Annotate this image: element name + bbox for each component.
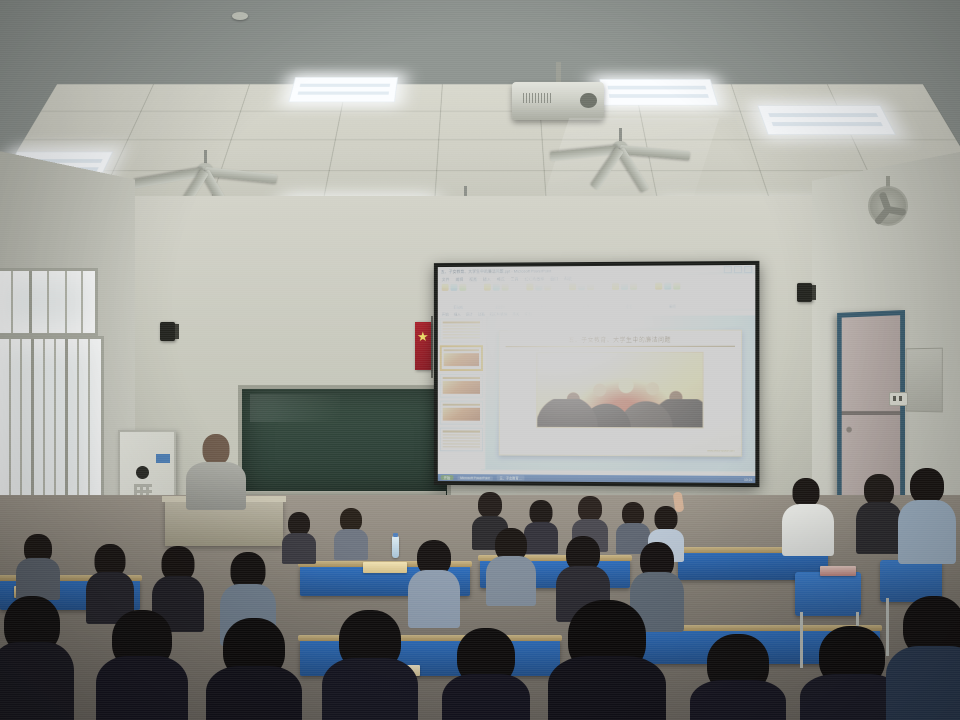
student (856, 474, 902, 554)
slide-thumbnail-number: 1 (440, 327, 442, 331)
window-mullion (31, 339, 34, 517)
close-icon[interactable] (744, 266, 752, 273)
student-body (886, 646, 960, 720)
ceiling-tile (127, 111, 241, 140)
slide-thumbnail-number: 2 (441, 355, 443, 359)
projector-lens-icon (580, 93, 597, 108)
slide-thumbnail-number: 4 (440, 410, 442, 414)
ribbon-button-icon[interactable] (493, 284, 500, 291)
window-mullion (29, 271, 32, 333)
ribbon-button-icon[interactable] (484, 284, 491, 291)
ribbon-control[interactable] (612, 295, 622, 298)
slide-thumbnail-2[interactable]: 2 (440, 345, 483, 371)
slide-thumbnail-content (443, 381, 480, 394)
ceiling-light-panel (288, 77, 398, 102)
ribbon-group-row[interactable] (526, 296, 560, 299)
ribbon-button-icon[interactable] (569, 283, 576, 290)
cabinet-knob-icon[interactable] (136, 466, 149, 479)
menu-item-3[interactable]: 插入 (483, 276, 491, 282)
window-upper-left (0, 268, 98, 336)
windows-taskbar[interactable]: 开始 Microsoft PowerPoint 五、子女教育… 10:24 (438, 474, 756, 483)
slide-thumbnail-4[interactable]: 4 (440, 401, 483, 425)
window-bar (43, 339, 45, 517)
window-bar (47, 271, 49, 333)
presenter-body (186, 462, 246, 510)
ribbon-button-icon[interactable] (621, 283, 628, 290)
ceiling-tile (231, 111, 341, 140)
presenter (185, 434, 247, 510)
slide-thumbnail-title (443, 404, 480, 406)
ribbon-control[interactable] (508, 296, 518, 299)
ribbon-group-label: 剪贴板 (442, 305, 475, 310)
student-body (782, 504, 834, 556)
student (690, 634, 786, 720)
ribbon-control[interactable] (624, 295, 634, 298)
ribbon-button-icon[interactable] (459, 284, 466, 291)
ribbon-control[interactable] (442, 296, 452, 299)
flag-icon: ★ (415, 322, 431, 370)
maximize-icon[interactable] (734, 266, 742, 273)
slide-thumbnail-number: 5 (440, 436, 442, 440)
window-bar (20, 339, 22, 517)
student-body (548, 656, 666, 720)
ribbon-group-5[interactable]: 编辑 (651, 281, 694, 309)
slide-thumbnail-title (443, 430, 480, 432)
ribbon-group-2[interactable]: 字体 (522, 282, 565, 310)
student-body (0, 642, 74, 720)
wall-speaker-left-icon (160, 322, 175, 341)
student-body (690, 680, 786, 720)
student (0, 596, 74, 720)
student-body (856, 502, 902, 554)
window-buttons[interactable] (724, 266, 752, 273)
power-outlet-icon (889, 392, 908, 406)
slide-thumbnail-content (444, 353, 479, 366)
ribbon-button-icon[interactable] (535, 283, 542, 290)
ceiling-tile (41, 84, 154, 111)
projection-screen[interactable]: 五、子女教育、大学生中的廉洁问题.ppt - Microsoft PowerPo… (438, 265, 756, 483)
student-body (898, 500, 956, 564)
presenter-head (203, 434, 230, 465)
student-body (334, 529, 368, 560)
menu-item-0[interactable]: 文件 (442, 276, 450, 282)
student-body (486, 556, 536, 606)
menu-item-6[interactable]: 幻灯片放映 (524, 276, 544, 282)
ribbon-group-icons[interactable] (655, 282, 689, 289)
door-knob-icon[interactable] (846, 427, 852, 433)
menu-item-1[interactable]: 编辑 (455, 276, 463, 282)
slide-title: 五、子女教育、大学生中的廉洁问题 (506, 335, 734, 347)
slide-thumbnail-number: 3 (440, 383, 442, 387)
slide-thumbnail-panel[interactable]: 12345 (438, 316, 486, 469)
student-body (16, 558, 60, 600)
ribbon-group-label: 绘图 (612, 304, 646, 309)
start-button[interactable]: 开始 (441, 475, 454, 480)
classroom-scene: ★ 五、子女教育、大学生中的廉洁问题.ppt - Microsoft Power… (0, 0, 960, 720)
slide-thumbnail-3[interactable]: 3 (440, 374, 483, 398)
slide-thumbnail-title (444, 349, 479, 351)
student-white-shirt-side (782, 478, 834, 556)
ceiling-tile (141, 84, 251, 111)
window-bar (81, 271, 83, 333)
ceiling-tile (436, 140, 545, 172)
slide-thumbnail-content (443, 408, 480, 421)
ribbon-group-label: 编辑 (655, 304, 689, 309)
ribbon-control[interactable] (667, 295, 677, 298)
student (886, 596, 960, 720)
student-body (96, 656, 188, 720)
window-bar (11, 271, 13, 333)
student-body (206, 666, 302, 720)
ribbon-group-icons[interactable] (569, 283, 603, 290)
ribbon-button-icon[interactable] (664, 283, 671, 290)
ribbon-group-0[interactable]: 剪贴板 (438, 283, 480, 311)
ceiling-fan-right (545, 128, 695, 184)
student (96, 610, 188, 720)
ribbon-control[interactable] (538, 296, 548, 299)
projector (512, 82, 604, 120)
ribbon-group-label: 字体 (526, 304, 560, 309)
window-bar (88, 339, 90, 517)
wall-panel (906, 348, 943, 413)
ribbon-button-icon[interactable] (442, 284, 449, 291)
ribbon-control[interactable] (453, 296, 463, 299)
menu-item-8[interactable]: 帮助 (564, 276, 572, 282)
ribbon-button-icon[interactable] (578, 283, 585, 290)
window-main-left (0, 336, 104, 520)
wall-fan-icon (868, 186, 908, 226)
student (206, 618, 302, 720)
ribbon-button-icon[interactable] (630, 283, 637, 290)
chair (795, 572, 861, 616)
slide-thumbnail-content (443, 434, 480, 447)
flag-star-icon: ★ (417, 330, 429, 343)
ceiling-tile (328, 140, 439, 172)
taskbar-clock: 10:24 (744, 477, 752, 481)
ribbon-control[interactable] (655, 295, 665, 298)
window-bar (54, 339, 56, 517)
ceiling-light-panel (599, 79, 718, 105)
window-bar (77, 339, 79, 517)
notebook (820, 566, 856, 576)
menu-item-5[interactable]: 工具 (511, 276, 519, 282)
ribbon-button-icon[interactable] (544, 283, 551, 290)
menu-item-7[interactable]: 窗口 (550, 276, 558, 282)
slide-stage[interactable]: 五、子女教育、大学生中的廉洁问题 www.photo-source.com (486, 315, 755, 471)
powerpoint-workspace: 12345 五、子女教育、大学生中的廉洁问题 www.photo-source.… (438, 315, 756, 471)
taskbar-item[interactable]: 五、子女教育… (497, 475, 525, 480)
ribbon-toolbar[interactable]: 剪贴板幻灯片字体段落绘图编辑 (438, 281, 756, 312)
slide-thumbnail-1[interactable]: 1 (440, 318, 483, 342)
student (16, 534, 60, 600)
ribbon-button-icon[interactable] (451, 284, 458, 291)
slide-thumbnail-title (443, 321, 480, 323)
slide-photo-credit: www.photo-source.com (707, 450, 734, 453)
ceiling-light-panel (757, 105, 896, 134)
student (322, 610, 418, 720)
notebook (363, 562, 407, 573)
ribbon-button-icon[interactable] (502, 283, 509, 290)
projection-screen-frame: 五、子女教育、大学生中的廉洁问题.ppt - Microsoft PowerPo… (434, 261, 760, 487)
student (442, 628, 530, 720)
bottle-cap-icon (393, 533, 398, 537)
slide-thumbnail-content (443, 325, 480, 338)
student (486, 528, 536, 606)
ribbon-group-label: 段落 (569, 304, 603, 309)
ribbon-group-1[interactable]: 幻灯片 (480, 282, 522, 310)
student (282, 512, 316, 564)
projector-mount (556, 62, 561, 84)
chalkboard-glare (250, 394, 340, 422)
notes-placeholder: 单击此处添加备注 (484, 481, 511, 483)
student-head (910, 468, 944, 504)
slide-photo (537, 352, 703, 429)
menu-item-4[interactable]: 格式 (497, 276, 505, 282)
ribbon-group-4[interactable]: 绘图 (608, 282, 651, 310)
student-body (322, 658, 418, 720)
projector-body (512, 82, 604, 120)
ribbon-button-icon[interactable] (587, 283, 594, 290)
ribbon-group-label: 幻灯片 (484, 304, 518, 309)
student-body (282, 533, 316, 564)
ribbon-control[interactable] (496, 296, 506, 299)
ceiling-tile (335, 111, 441, 140)
water-bottle (392, 536, 399, 558)
window-bar (9, 339, 11, 517)
ribbon-control[interactable] (465, 296, 475, 299)
student-head (478, 492, 502, 518)
ribbon-control[interactable] (636, 295, 646, 298)
current-slide[interactable]: 五、子女教育、大学生中的廉洁问题 www.photo-source.com (499, 329, 741, 456)
student-head (792, 478, 819, 507)
taskbar-item[interactable]: Microsoft PowerPoint (457, 476, 493, 480)
ceiling-tile (749, 140, 868, 172)
cabinet-label (156, 454, 170, 463)
ribbon-group-icons[interactable] (612, 283, 646, 290)
ribbon-control[interactable] (526, 296, 536, 299)
flag-pole (431, 316, 433, 378)
ribbon-group-row[interactable] (612, 295, 646, 298)
menu-item-2[interactable]: 视图 (469, 276, 477, 282)
ribbon-group-row[interactable] (655, 295, 689, 298)
wall-speaker-right-icon (797, 283, 812, 302)
student-body (442, 674, 530, 720)
ribbon-control[interactable] (569, 296, 579, 299)
ribbon-button-icon[interactable] (612, 283, 619, 290)
ribbon-group-row[interactable] (442, 296, 475, 299)
ribbon-button-icon[interactable] (673, 283, 680, 290)
chalkboard (238, 385, 451, 501)
window-mullion (65, 339, 68, 517)
door-rail (842, 411, 900, 415)
ribbon-group-icons[interactable] (484, 283, 518, 290)
ribbon-button-icon[interactable] (655, 283, 662, 290)
ribbon-control[interactable] (484, 296, 494, 299)
ribbon-group-row[interactable] (484, 296, 518, 299)
ribbon-control[interactable] (679, 295, 689, 298)
ceiling-tile (24, 111, 142, 140)
student (548, 600, 666, 720)
slide-thumbnail-title (443, 377, 480, 379)
slide-thumbnail-5[interactable]: 5 (440, 427, 483, 451)
student (898, 468, 956, 564)
smoke-detector-icon (232, 12, 248, 20)
ribbon-group-icons[interactable] (442, 284, 475, 291)
ribbon-group-row[interactable] (569, 295, 603, 298)
ribbon-button-icon[interactable] (526, 283, 533, 290)
student (334, 508, 368, 560)
slide-photo-foreground (538, 399, 702, 428)
window-bar (65, 271, 67, 333)
ribbon-control[interactable] (593, 295, 603, 298)
ribbon-group-3[interactable]: 段落 (565, 282, 608, 310)
minimize-icon[interactable] (724, 266, 732, 273)
ribbon-group-icons[interactable] (526, 283, 560, 290)
projector-vent-icon (523, 93, 551, 103)
student-head (655, 506, 678, 531)
ribbon-control[interactable] (581, 296, 591, 299)
ribbon-control[interactable] (550, 296, 560, 299)
window-title: 五、子女教育、大学生中的廉洁问题.ppt - Microsoft PowerPo… (441, 268, 551, 275)
